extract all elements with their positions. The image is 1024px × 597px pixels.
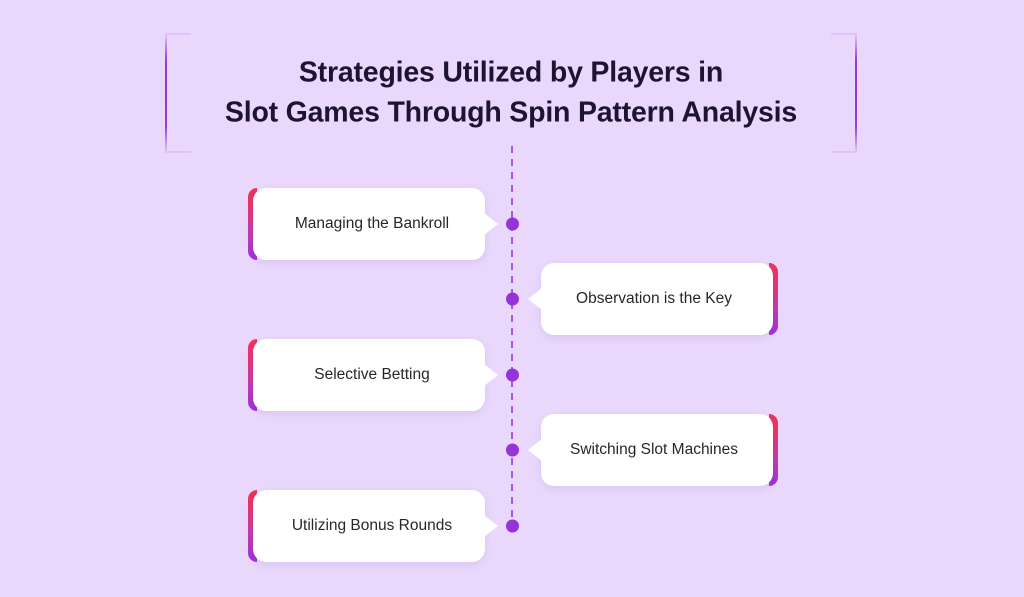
- strategy-card-label: Switching Slot Machines: [541, 441, 773, 460]
- strategy-card-switching-slot-machines[interactable]: Switching Slot Machines: [541, 414, 773, 486]
- strategy-card-utilizing-bonus-rounds[interactable]: Utilizing Bonus Rounds: [253, 490, 485, 562]
- timeline-dashed-line: [511, 146, 513, 526]
- right-bracket-decoration: [831, 33, 857, 153]
- strategy-card-label: Observation is the Key: [541, 290, 773, 309]
- timeline-dot: [506, 218, 519, 231]
- timeline-dot: [506, 520, 519, 533]
- infographic-canvas: Strategies Utilized by Players in Slot G…: [0, 0, 1024, 597]
- card-pointer-icon: [484, 515, 498, 537]
- strategy-card-observation-is-the-key[interactable]: Observation is the Key: [541, 263, 773, 335]
- timeline-dot: [506, 444, 519, 457]
- timeline-dot: [506, 293, 519, 306]
- strategy-card-label: Selective Betting: [253, 366, 485, 385]
- left-bracket-decoration: [165, 33, 191, 153]
- page-title: Strategies Utilized by Players in Slot G…: [195, 53, 827, 134]
- strategy-card-selective-betting[interactable]: Selective Betting: [253, 339, 485, 411]
- strategy-card-managing-the-bankroll[interactable]: Managing the Bankroll: [253, 188, 485, 260]
- timeline-dot: [506, 369, 519, 382]
- card-pointer-icon: [528, 288, 542, 310]
- card-pointer-icon: [484, 364, 498, 386]
- card-pointer-icon: [528, 439, 542, 461]
- title-block: Strategies Utilized by Players in Slot G…: [165, 33, 857, 153]
- strategy-card-label: Managing the Bankroll: [253, 215, 485, 234]
- strategy-card-label: Utilizing Bonus Rounds: [253, 517, 485, 536]
- card-pointer-icon: [484, 213, 498, 235]
